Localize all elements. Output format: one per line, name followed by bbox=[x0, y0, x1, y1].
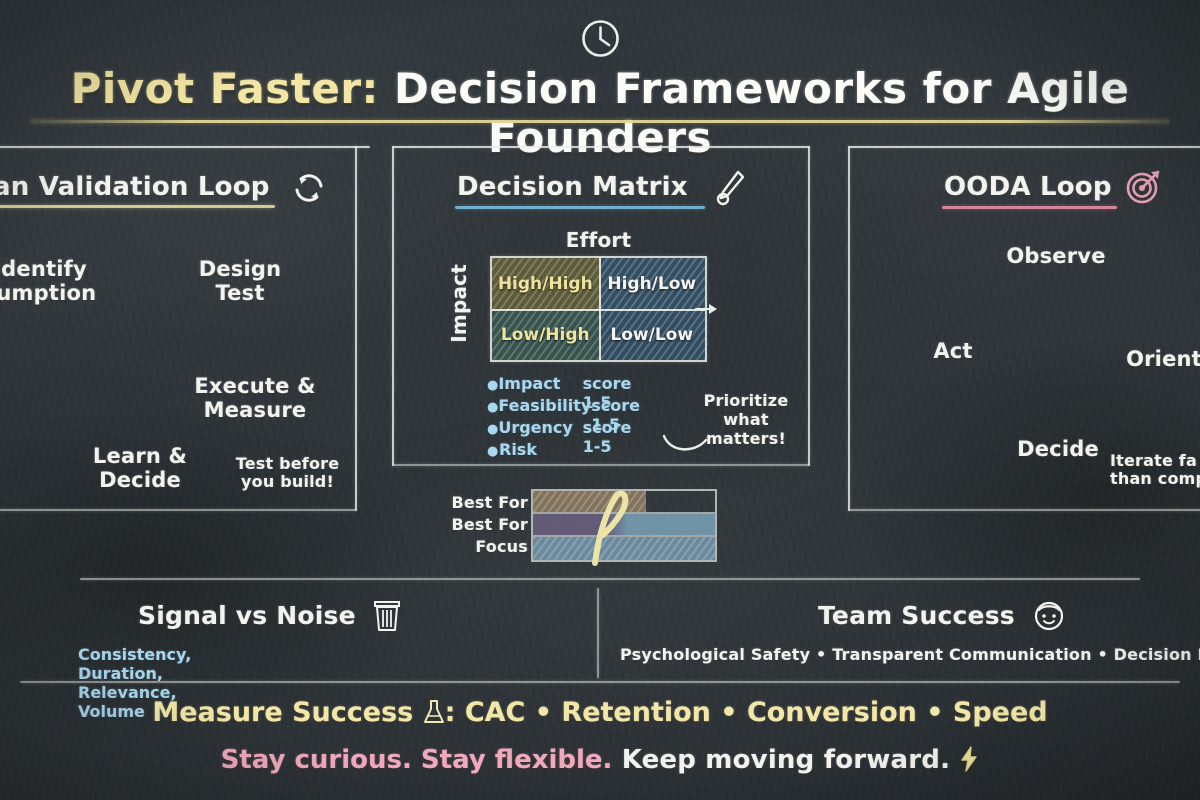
matrix-axis-x-label: Effort bbox=[490, 228, 707, 252]
matrix-cell-low-high[interactable]: Low/High bbox=[492, 309, 599, 360]
bullet-icon: ● bbox=[487, 444, 499, 459]
team-section-subtitle: Psychological Safety • Transparent Commu… bbox=[620, 645, 1200, 664]
lean-panel-underline bbox=[0, 205, 275, 208]
lean-panel-right-border bbox=[355, 146, 357, 511]
lean-node-execute-measure: Execute & Measure bbox=[185, 375, 325, 422]
bottom-bottom-divider bbox=[20, 681, 1180, 683]
team-section-title: Team Success bbox=[818, 601, 1015, 630]
bottom-center-divider bbox=[597, 588, 599, 678]
matrix-divider-horizontal bbox=[492, 309, 705, 311]
footer-metrics-prefix: Measure Success bbox=[152, 697, 422, 728]
ooda-node-observe: Observe bbox=[1000, 245, 1112, 269]
target-icon bbox=[1124, 166, 1164, 206]
ooda-panel-underline bbox=[942, 206, 1117, 209]
chalkboard-background: Pivot Faster: Decision Frameworks for Ag… bbox=[0, 0, 1200, 800]
matrix-cell-label: Low/High bbox=[501, 325, 590, 345]
matrix-panel-right-border bbox=[808, 146, 810, 466]
matrix-panel-underline bbox=[455, 206, 705, 209]
bar-row-label: Focus bbox=[432, 536, 528, 558]
matrix-effort-arrow bbox=[695, 300, 719, 320]
flask-icon bbox=[423, 699, 445, 725]
bullet-icon: ● bbox=[487, 400, 498, 415]
ooda-panel-title: OODA Loop bbox=[944, 172, 1112, 202]
bar-row-label: Best For bbox=[432, 492, 528, 514]
ooda-panel-top-border bbox=[848, 146, 1200, 148]
footer-metrics-suffix: : CAC • Retention • Conversion • Speed bbox=[445, 697, 1048, 728]
matrix-criteria-list: ● Impact score 1-5 ● Feasibility score 1… bbox=[487, 374, 651, 462]
criteria-row: ● Feasibility score 1-5 bbox=[487, 396, 651, 418]
matrix-cell-high-low[interactable]: High/Low bbox=[599, 258, 706, 309]
signal-section-title: Signal vs Noise bbox=[138, 601, 356, 630]
criteria-name: Urgency bbox=[498, 418, 582, 437]
bullet-icon: ● bbox=[487, 378, 498, 393]
matrix-cell-label: High/High bbox=[498, 274, 593, 294]
trash-bin-icon bbox=[372, 600, 402, 632]
lean-panel-top-border bbox=[0, 146, 370, 148]
lean-panel-title: an Validation Loop bbox=[0, 172, 270, 202]
bullet-icon: ● bbox=[487, 422, 498, 437]
pencil-icon bbox=[714, 168, 746, 208]
footer-tagline-rest: Keep moving forward. bbox=[612, 745, 959, 775]
matrix-panel-top-border bbox=[392, 146, 810, 148]
ooda-node-decide: Decide bbox=[1008, 438, 1108, 462]
ooda-panel-left-border bbox=[848, 146, 850, 511]
criteria-row: ● Urgency score 1-5 bbox=[487, 418, 651, 440]
page-title-accent: Pivot Faster: bbox=[71, 64, 379, 113]
lean-panel-bottom-border bbox=[0, 509, 357, 511]
matrix-callout: Prioritize what matters! bbox=[698, 392, 794, 449]
lean-node-identify-assumption: Identify sumption bbox=[0, 258, 110, 305]
smiley-face-icon bbox=[1034, 601, 1064, 631]
criteria-name: Feasibility bbox=[498, 396, 591, 415]
matrix-axis-y-label: Impact bbox=[447, 264, 471, 343]
lean-note: Test before you build! bbox=[225, 455, 350, 492]
title-underline bbox=[30, 120, 1170, 123]
bottom-top-divider bbox=[80, 578, 1140, 580]
ooda-node-orient: Orient bbox=[1118, 348, 1200, 372]
matrix-grid: High/High High/Low Low/High Low/Low bbox=[490, 256, 707, 362]
matrix-cell-label: Low/Low bbox=[610, 325, 693, 345]
ooda-node-act: Act bbox=[920, 340, 986, 364]
matrix-cell-high-high[interactable]: High/High bbox=[492, 258, 599, 309]
matrix-panel-title: Decision Matrix bbox=[457, 172, 688, 202]
clock-icon bbox=[578, 16, 623, 61]
bar-chart-row-labels: Best For Best For Focus bbox=[432, 492, 528, 558]
matrix-cell-low-low[interactable]: Low/Low bbox=[599, 309, 706, 360]
ooda-panel-bottom-border bbox=[848, 509, 1200, 511]
bar-row-label: Best For bbox=[432, 514, 528, 536]
lean-node-learn-decide: Learn & Decide bbox=[75, 445, 205, 492]
matrix-panel-left-border bbox=[392, 146, 394, 466]
matrix-panel-bottom-border bbox=[392, 464, 810, 466]
check-hook-icon bbox=[573, 487, 633, 567]
criteria-name: Impact bbox=[498, 374, 582, 393]
footer-tagline-accent: Stay curious. Stay flexible. bbox=[221, 745, 613, 775]
criteria-row: ● Impact score 1-5 bbox=[487, 374, 651, 396]
matrix-cell-label: High/Low bbox=[607, 274, 696, 294]
bar-chart-plot bbox=[531, 489, 717, 562]
refresh-cycle-icon bbox=[292, 172, 326, 204]
lean-node-design-test: Design Test bbox=[185, 258, 295, 305]
criteria-name: Risk bbox=[499, 440, 602, 459]
lightning-bolt-icon bbox=[959, 746, 979, 772]
footer-tagline: Stay curious. Stay flexible. Keep moving… bbox=[0, 745, 1200, 775]
footer-metrics-line: Measure Success : CAC • Retention • Conv… bbox=[0, 697, 1200, 728]
ooda-note: Iterate fa than compe bbox=[1110, 452, 1200, 489]
